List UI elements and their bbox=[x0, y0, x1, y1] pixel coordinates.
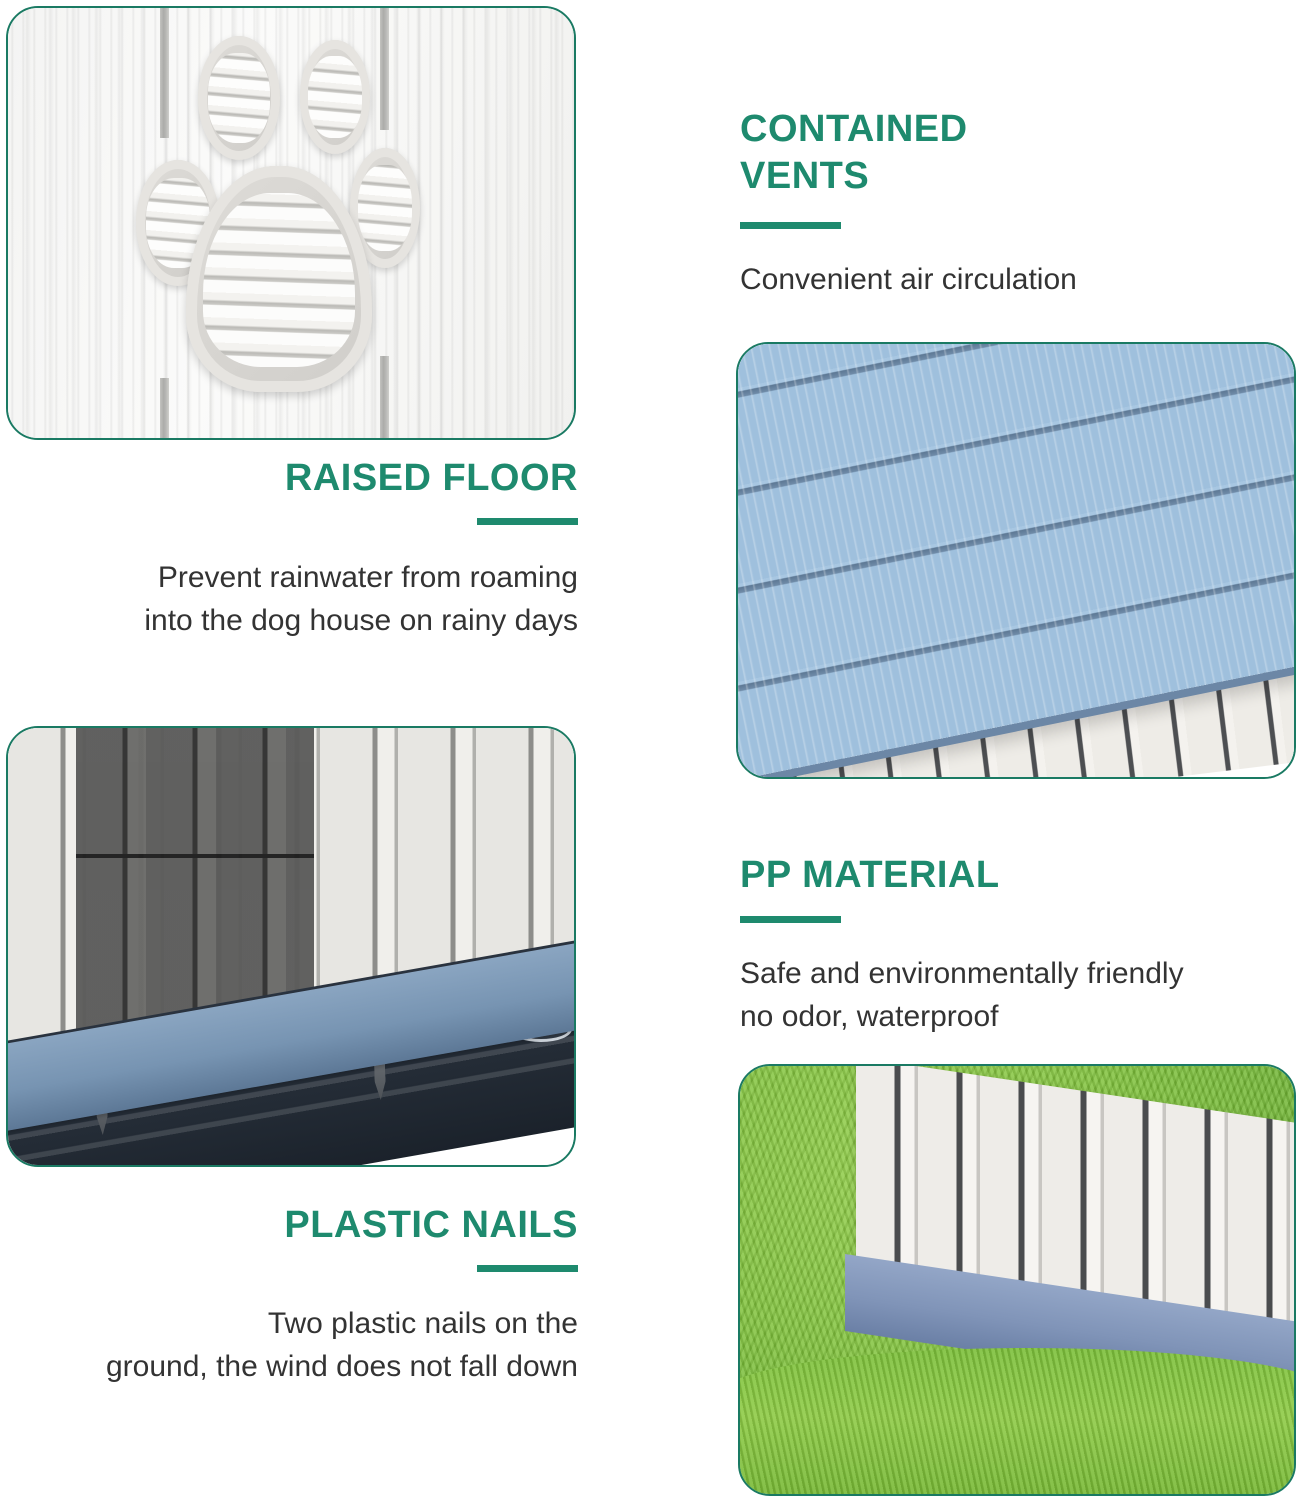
foreground-grass bbox=[738, 1348, 1296, 1496]
feature-title-contained-vents-line2: VENTS bbox=[740, 153, 1280, 199]
feature-title-raised-floor: RAISED FLOOR bbox=[60, 455, 578, 501]
accent-bar-plastic-nails bbox=[477, 1265, 578, 1272]
feature-desc-contained-vents: Convenient air circulation bbox=[740, 259, 1286, 302]
paw-toe-vent bbox=[300, 40, 370, 154]
siding-seam bbox=[380, 356, 389, 440]
nails-scene bbox=[8, 728, 574, 1165]
roof-scene bbox=[738, 344, 1294, 777]
feature-desc-pp-material-line2: no odor, waterproof bbox=[740, 996, 1296, 1039]
image-panel-raised-floor bbox=[736, 342, 1296, 779]
feature-title-contained-vents-line1: CONTAINED bbox=[740, 106, 1280, 152]
feature-desc-plastic-nails-line2: ground, the wind does not fall down bbox=[20, 1346, 578, 1389]
image-panel-pp-material bbox=[738, 1064, 1296, 1496]
feature-desc-raised-floor-line2: into the dog house on rainy days bbox=[30, 600, 578, 643]
feature-desc-pp-material-line1: Safe and environmentally friendly bbox=[740, 953, 1296, 996]
feature-desc-raised-floor-line1: Prevent rainwater from roaming bbox=[30, 557, 578, 600]
image-panel-plastic-nails bbox=[6, 726, 576, 1167]
accent-bar-raised-floor bbox=[477, 518, 578, 525]
image-panel-contained-vents bbox=[6, 6, 576, 440]
accent-bar-contained-vents bbox=[740, 222, 841, 229]
accent-bar-pp-material bbox=[740, 916, 841, 923]
paw-toe-vent bbox=[198, 36, 280, 160]
feature-title-plastic-nails: PLASTIC NAILS bbox=[60, 1202, 578, 1248]
feature-title-pp-material: PP MATERIAL bbox=[740, 852, 1286, 898]
feature-desc-plastic-nails-line1: Two plastic nails on the bbox=[20, 1303, 578, 1346]
siding-seam bbox=[380, 6, 389, 130]
siding-seam bbox=[160, 378, 169, 440]
siding-seam bbox=[160, 6, 169, 138]
